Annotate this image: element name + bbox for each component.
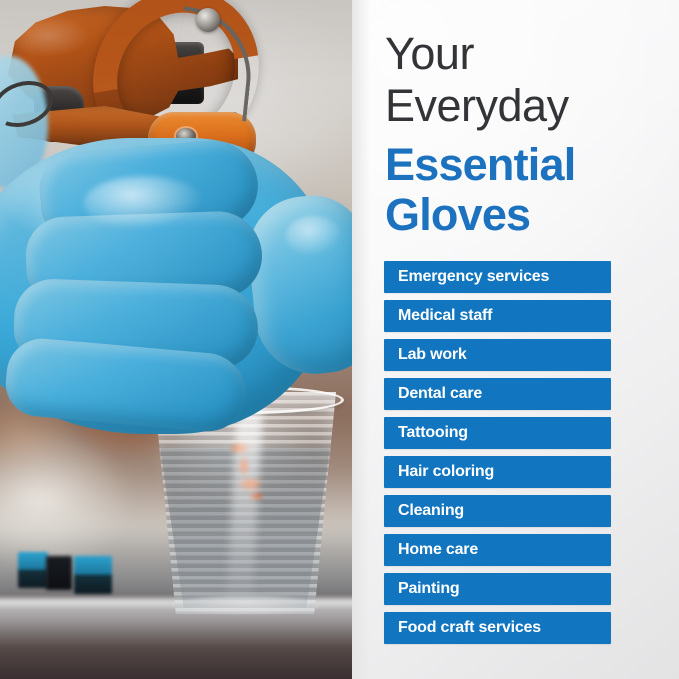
headline-accent-block: Essential Gloves: [385, 140, 665, 240]
list-item[interactable]: Painting: [384, 573, 611, 605]
list-item-label: Dental care: [384, 385, 482, 403]
list-item[interactable]: Food craft services: [384, 612, 611, 644]
list-item-label: Emergency services: [384, 268, 549, 286]
list-item-label: Painting: [384, 580, 460, 598]
panel-edge-shadow: [352, 0, 370, 679]
glove-knuckle-highlight: [84, 176, 204, 230]
list-item[interactable]: Emergency services: [384, 261, 611, 293]
glove-thumb-highlight: [286, 216, 342, 256]
list-item[interactable]: Dental care: [384, 378, 611, 410]
list-item[interactable]: Medical staff: [384, 300, 611, 332]
info-panel: Your Everyday Essential Gloves Emergency…: [352, 0, 679, 679]
wire-screw: [196, 8, 220, 32]
list-item-label: Tattooing: [384, 424, 468, 442]
list-item-label: Hair coloring: [384, 463, 494, 481]
list-item[interactable]: Hair coloring: [384, 456, 611, 488]
list-item[interactable]: Lab work: [384, 339, 611, 371]
product-poster: Your Everyday Essential Gloves Emergency…: [0, 0, 679, 679]
list-item-label: Medical staff: [384, 307, 492, 325]
headline-block: Your Everyday Essential Gloves: [385, 28, 665, 240]
list-item-label: Lab work: [384, 346, 467, 364]
headline-line-3: Essential: [385, 140, 665, 190]
list-item-label: Food craft services: [384, 619, 541, 637]
ink-cap-bottle-right: [74, 556, 112, 594]
ink-cap-bottle-left: [18, 552, 48, 588]
headline-line-4: Gloves: [385, 190, 665, 240]
list-item-label: Home care: [384, 541, 478, 559]
ink-bottle-dark: [46, 556, 72, 590]
use-case-list: Emergency services Medical staff Lab wor…: [384, 261, 611, 644]
list-item-label: Cleaning: [384, 502, 464, 520]
photo-stage: [0, 0, 352, 679]
list-item[interactable]: Home care: [384, 534, 611, 566]
product-photo: [0, 0, 352, 679]
list-item[interactable]: Tattooing: [384, 417, 611, 449]
cup-base: [172, 596, 320, 614]
headline-line-2: Everyday: [385, 80, 665, 132]
list-item[interactable]: Cleaning: [384, 495, 611, 527]
headline-line-1: Your: [385, 28, 665, 80]
